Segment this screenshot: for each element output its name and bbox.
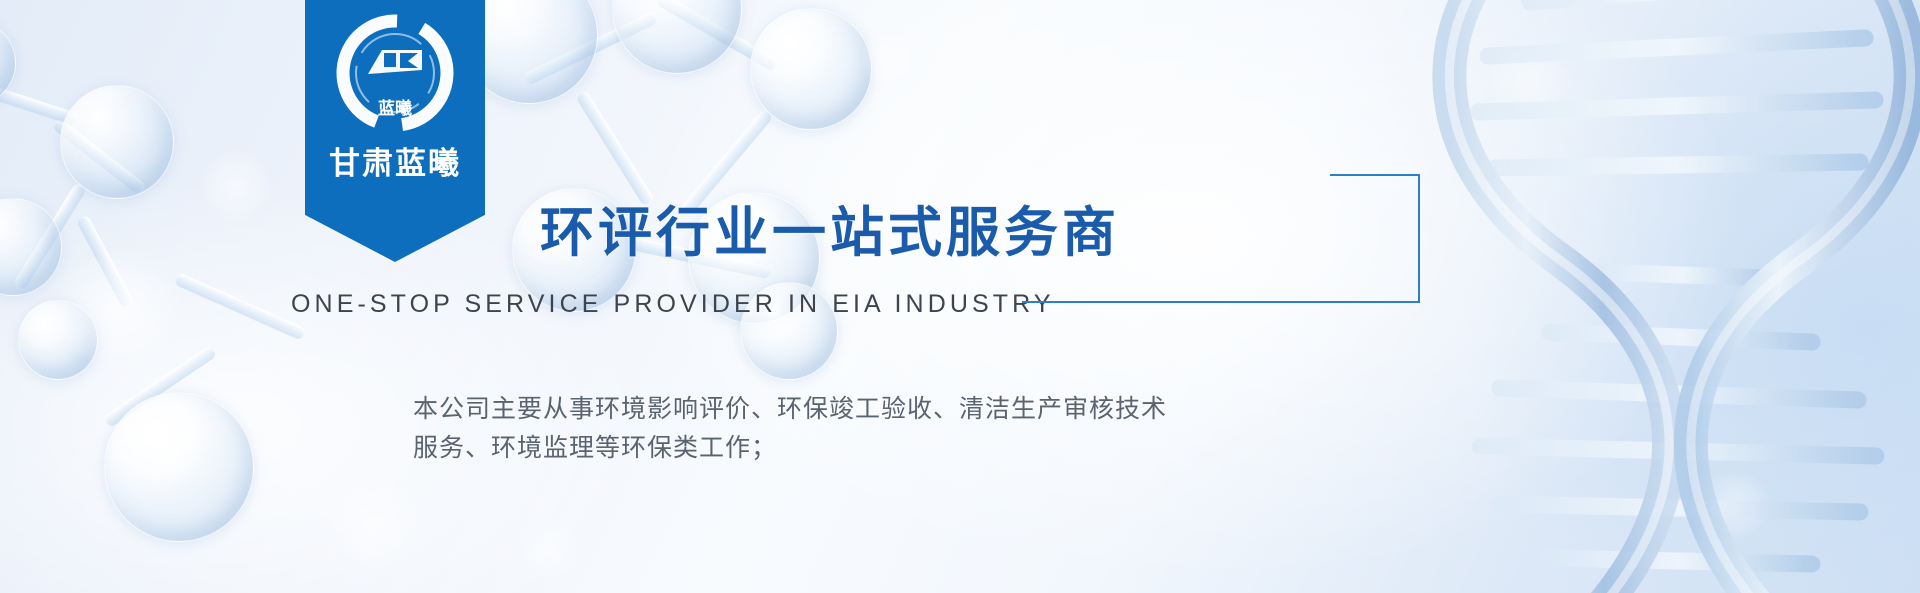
description-line: 本公司主要从事环境影响评价、环保竣工验收、清洁生产审核技术 <box>413 390 1213 429</box>
molecule-atom <box>18 300 98 380</box>
company-logo-icon: 蓝曦 <box>336 14 454 132</box>
molecule-bond <box>173 272 306 341</box>
molecule-atom <box>104 392 254 542</box>
bokeh-light <box>860 30 915 85</box>
accent-rule-top <box>1330 174 1420 176</box>
molecule-atom <box>0 198 62 296</box>
molecule-bond <box>52 118 147 196</box>
company-badge: 蓝曦 甘肃蓝曦 <box>305 0 485 262</box>
logo-wordmark: 蓝曦 <box>378 98 412 119</box>
bokeh-light <box>1700 470 1770 540</box>
accent-rule-vertical <box>1418 175 1420 303</box>
molecule-bond <box>522 11 658 86</box>
bokeh-light <box>520 520 580 580</box>
molecule-bond <box>0 77 79 126</box>
molecule-bond <box>656 0 779 72</box>
accent-rule-horizontal <box>1022 301 1420 303</box>
bokeh-light <box>60 250 180 370</box>
molecule-bond <box>13 182 88 291</box>
bokeh-light <box>330 480 420 570</box>
molecule-atom <box>750 8 872 130</box>
hero-banner: 蓝曦 甘肃蓝曦 环评行业一站式服务商 ONE-STOP SERVICE PROV… <box>0 0 1920 593</box>
molecule-atom <box>612 0 742 74</box>
bokeh-light <box>200 150 270 220</box>
molecule-atom <box>60 85 174 199</box>
molecule-bond <box>102 345 217 428</box>
banner-headline: 环评行业一站式服务商 <box>540 188 1120 267</box>
banner-subtitle: ONE-STOP SERVICE PROVIDER IN EIA INDUSTR… <box>291 290 1055 319</box>
dna-helix-graphic <box>1360 0 1920 593</box>
company-name: 甘肃蓝曦 <box>329 138 461 183</box>
molecule-bond <box>76 214 134 308</box>
banner-description: 本公司主要从事环境影响评价、环保竣工验收、清洁生产审核技术 服务、环境监理等环保… <box>413 390 1213 468</box>
description-line: 服务、环境监理等环保类工作； <box>413 429 1213 468</box>
molecule-atom <box>0 20 16 106</box>
bokeh-light <box>1490 40 1570 120</box>
